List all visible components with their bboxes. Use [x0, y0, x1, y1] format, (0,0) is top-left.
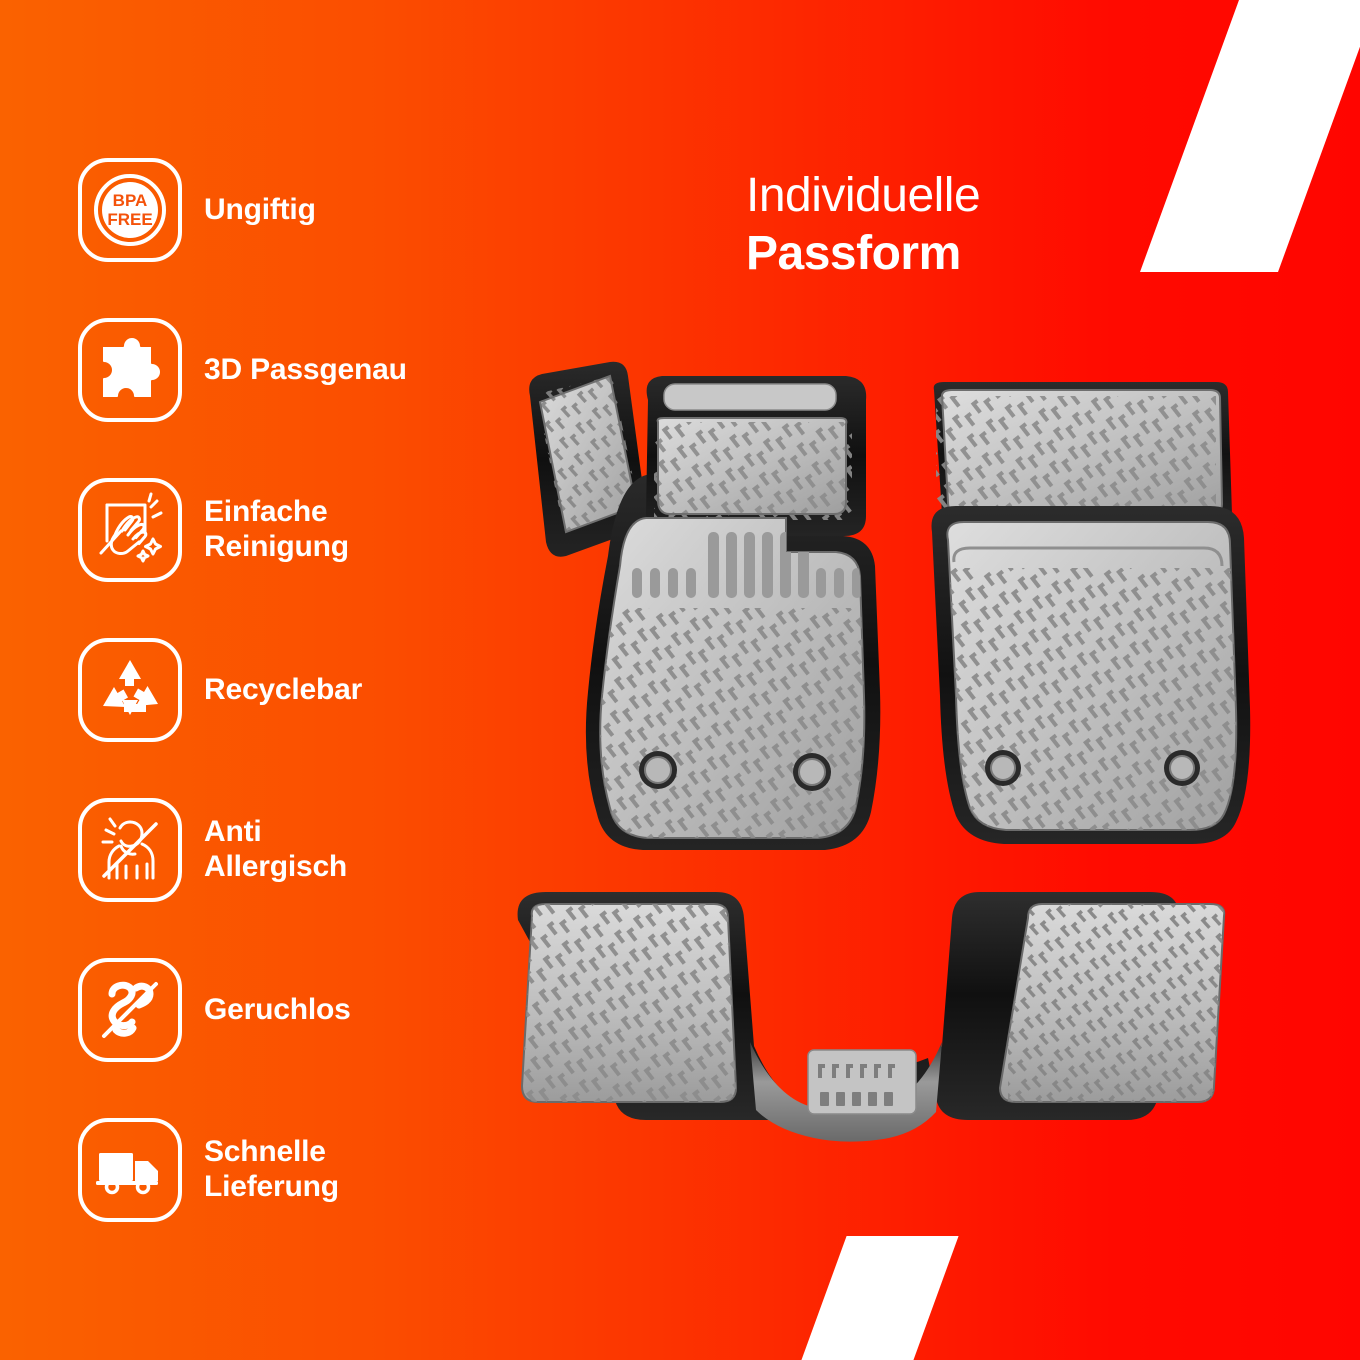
poster-canvas: Individuelle Passform BPA FREE Ungiftig [0, 0, 1360, 1360]
rear-floor-mat [498, 868, 1258, 1158]
front-left-floor-mat [512, 360, 912, 870]
product-image-group [0, 0, 1360, 1360]
front-right-floor-mat [918, 380, 1258, 860]
